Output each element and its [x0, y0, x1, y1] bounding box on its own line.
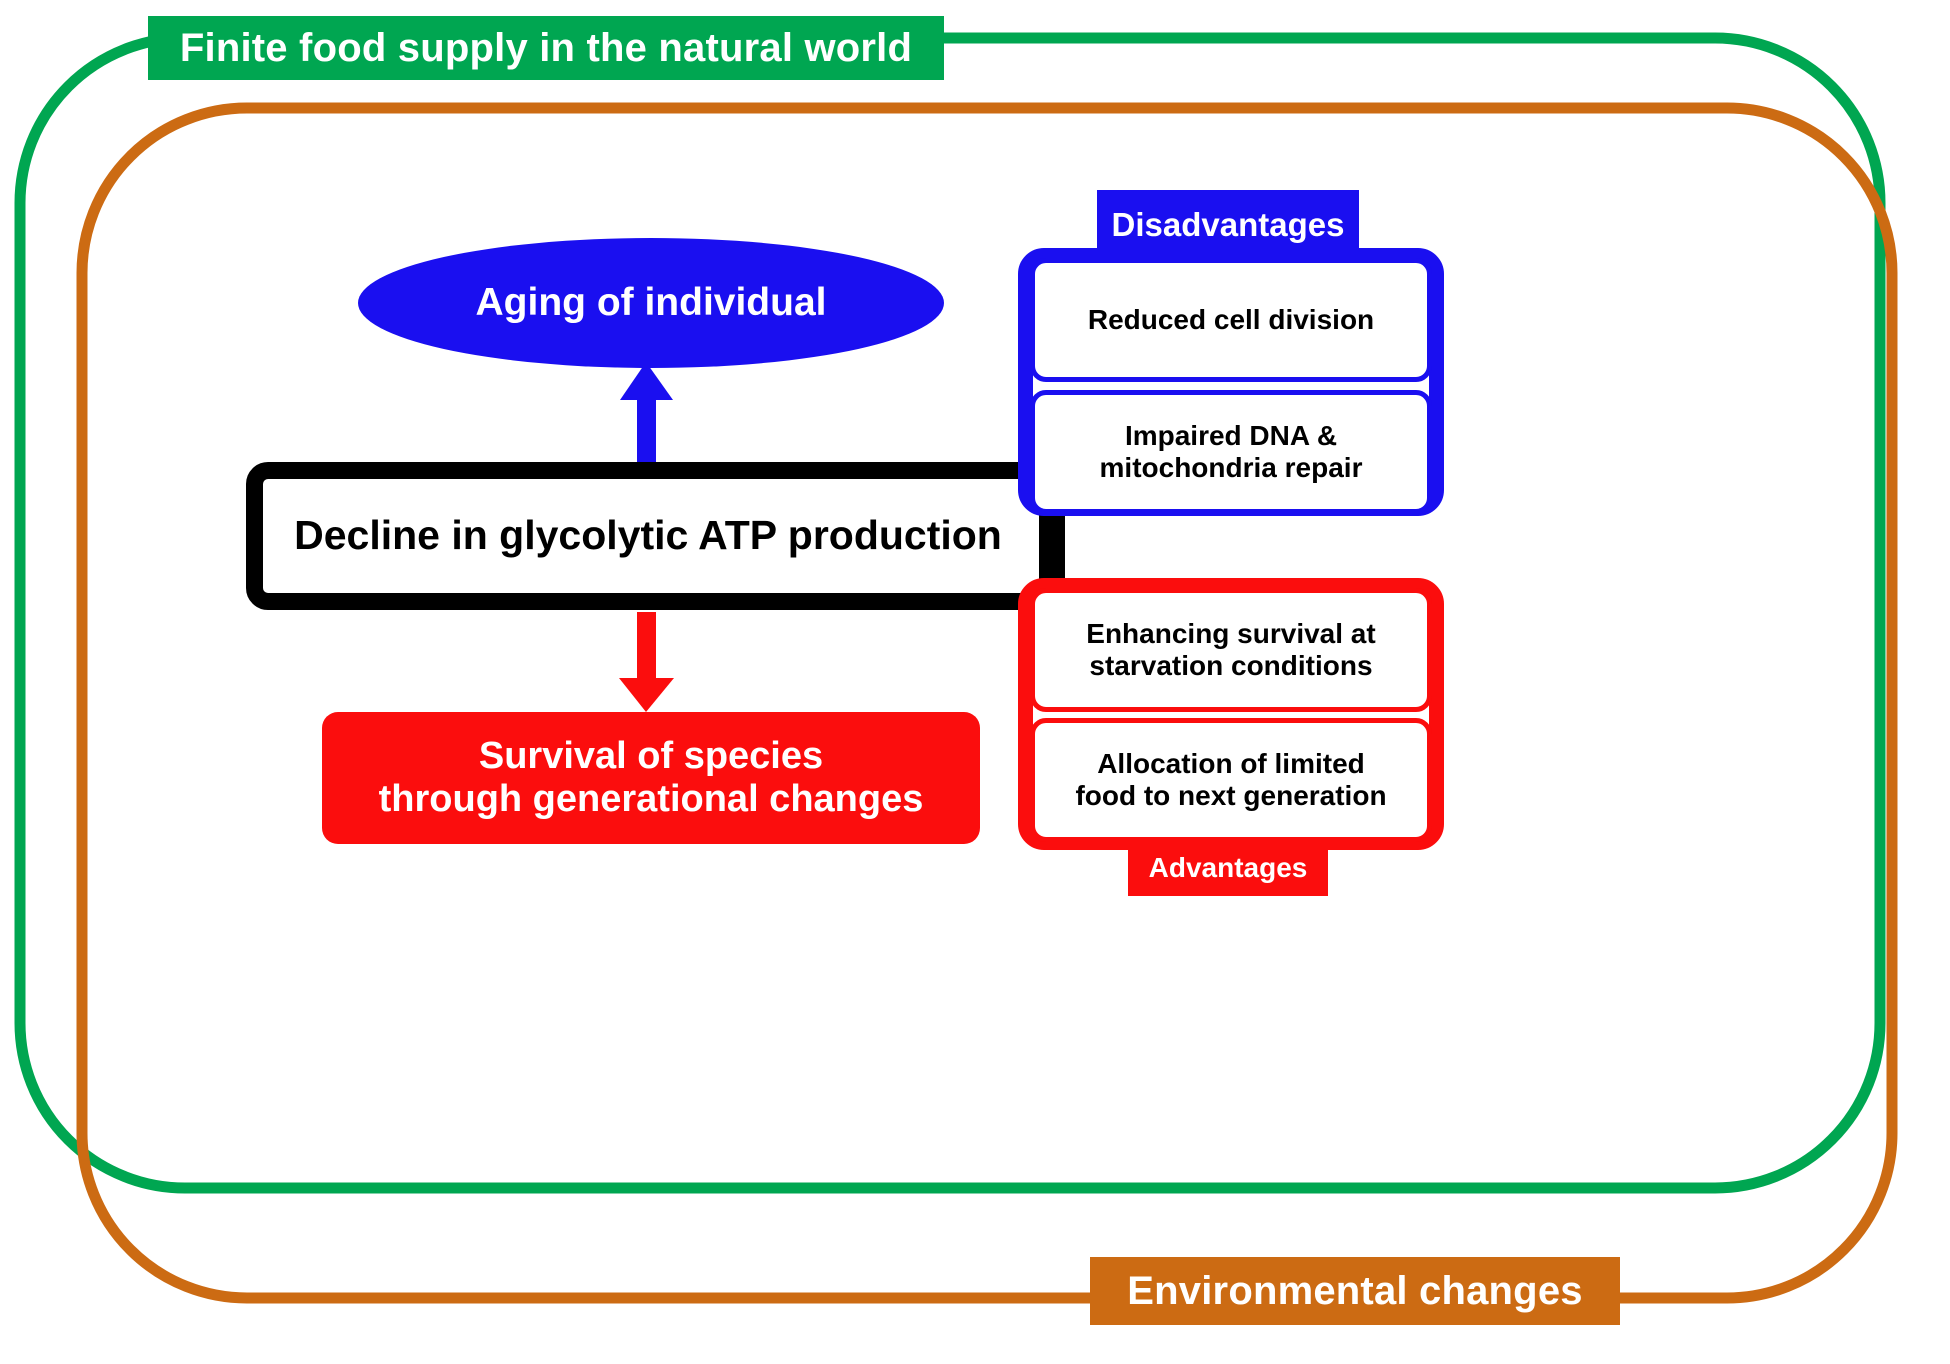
item-line-2: mitochondria repair: [1100, 452, 1363, 483]
item-line-2: food to next generation: [1075, 780, 1386, 811]
brown-inner-boundary: [82, 108, 1892, 1298]
item-enhancing-survival-starvation: Enhancing survival at starvation conditi…: [1030, 588, 1432, 712]
item-text: Reduced cell division: [1088, 304, 1374, 336]
survival-of-species-node: Survival of species through generational…: [322, 712, 980, 844]
item-allocation-limited-food: Allocation of limited food to next gener…: [1030, 718, 1432, 842]
item-reduced-cell-division: Reduced cell division: [1030, 258, 1432, 382]
item-text: Enhancing survival at starvation conditi…: [1086, 618, 1375, 683]
decline-glycolytic-atp-node: Decline in glycolytic ATP production: [246, 462, 1056, 610]
item-line-1: Impaired DNA &: [1125, 420, 1337, 451]
finite-food-supply-label: Finite food supply in the natural world: [148, 16, 944, 80]
aging-of-individual-node: Aging of individual: [358, 238, 944, 368]
item-line-1: Enhancing survival at: [1086, 618, 1375, 649]
green-outer-boundary: [20, 38, 1880, 1188]
item-line-1: Allocation of limited: [1097, 748, 1365, 779]
survival-text: Survival of species through generational…: [379, 735, 924, 820]
item-text: Allocation of limited food to next gener…: [1075, 748, 1386, 813]
red-down-arrow: [619, 612, 674, 712]
diagram-canvas: Finite food supply in the natural world …: [0, 0, 1950, 1364]
survival-line-2: through generational changes: [379, 778, 924, 820]
vector-layer: [0, 0, 1950, 1364]
item-impaired-dna-mitochondria-repair: Impaired DNA & mitochondria repair: [1030, 390, 1432, 514]
blue-up-arrow: [620, 362, 673, 472]
item-line-2: starvation conditions: [1089, 650, 1372, 681]
environmental-changes-label: Environmental changes: [1090, 1257, 1620, 1325]
item-text: Impaired DNA & mitochondria repair: [1100, 420, 1363, 485]
survival-line-1: Survival of species: [479, 735, 823, 777]
item-line-1: Reduced cell division: [1088, 304, 1374, 335]
